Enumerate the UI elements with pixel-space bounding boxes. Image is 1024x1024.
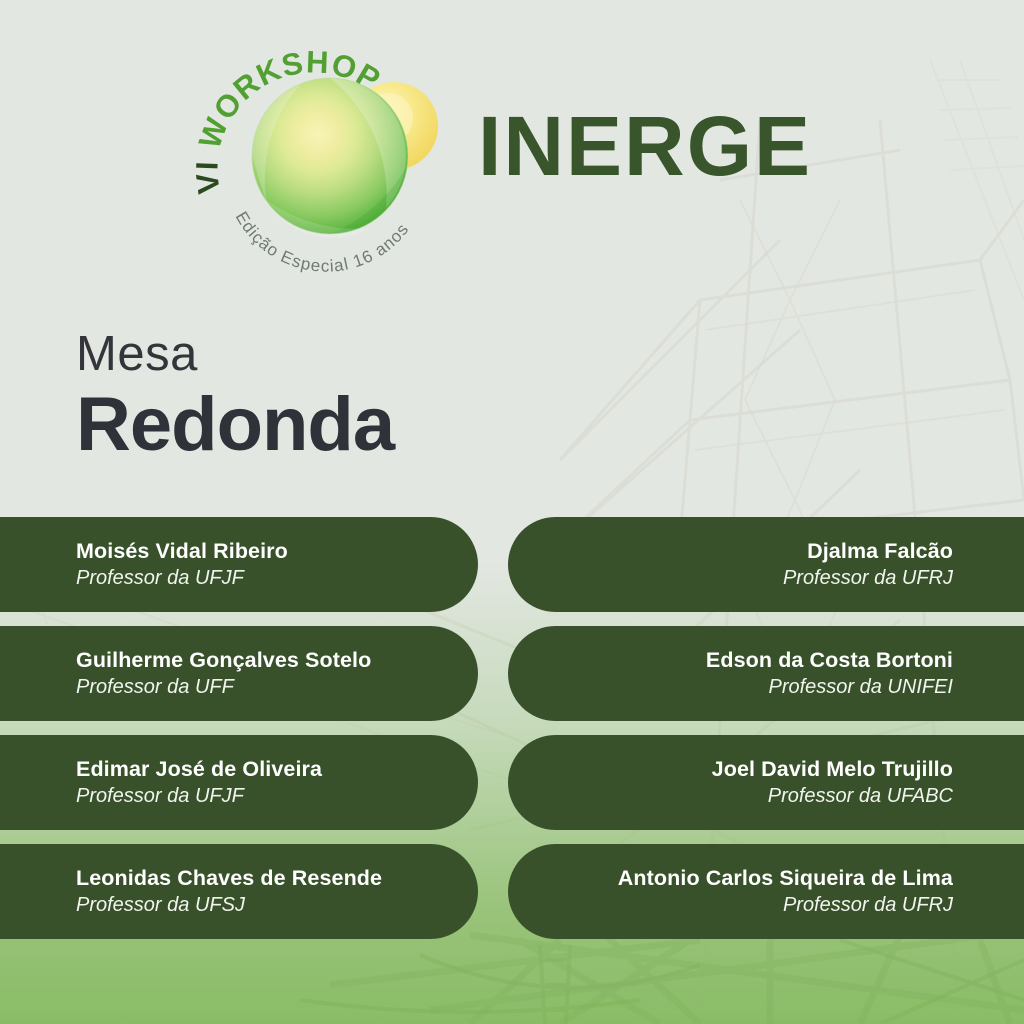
participant-name: Djalma Falcão	[807, 538, 953, 565]
participant-name: Leonidas Chaves de Resende	[76, 865, 382, 892]
participant-role: Professor da UFRJ	[783, 565, 953, 591]
participant-name: Antonio Carlos Siqueira de Lima	[618, 865, 953, 892]
participant-card[interactable]: Antonio Carlos Siqueira de Lima Professo…	[508, 844, 1024, 939]
participant-name: Edimar José de Oliveira	[76, 756, 322, 783]
page-title: Mesa Redonda	[76, 330, 394, 465]
participant-card[interactable]: Edimar José de Oliveira Professor da UFJ…	[0, 735, 478, 830]
participant-role: Professor da UFABC	[768, 783, 953, 809]
card-row: Leonidas Chaves de Resende Professor da …	[0, 844, 1024, 939]
participant-card[interactable]: Joel David Melo Trujillo Professor da UF…	[508, 735, 1024, 830]
participant-role: Professor da UFJF	[76, 783, 244, 809]
card-row: Edimar José de Oliveira Professor da UFJ…	[0, 735, 1024, 830]
participant-name: Joel David Melo Trujillo	[712, 756, 953, 783]
brand-title: INERGE	[478, 104, 812, 188]
page-title-line-2: Redonda	[76, 385, 394, 465]
participant-name: Edson da Costa Bortoni	[706, 647, 953, 674]
poster-canvas: VI WORKSHOP Edição Especial 16 anos INER…	[0, 0, 1024, 1024]
participant-role: Professor da UFF	[76, 674, 234, 700]
participant-role: Professor da UFJF	[76, 565, 244, 591]
participant-role: Professor da UFRJ	[783, 892, 953, 918]
participant-card-grid: Moisés Vidal Ribeiro Professor da UFJF D…	[0, 517, 1024, 953]
inerge-workshop-logo: VI WORKSHOP Edição Especial 16 anos	[190, 48, 470, 280]
participant-name: Guilherme Gonçalves Sotelo	[76, 647, 371, 674]
participant-card[interactable]: Guilherme Gonçalves Sotelo Professor da …	[0, 626, 478, 721]
participant-card[interactable]: Leonidas Chaves de Resende Professor da …	[0, 844, 478, 939]
participant-name: Moisés Vidal Ribeiro	[76, 538, 288, 565]
logo-arc-prefix: VI	[190, 160, 227, 196]
participant-card[interactable]: Edson da Costa Bortoni Professor da UNIF…	[508, 626, 1024, 721]
participant-role: Professor da UNIFEI	[768, 674, 953, 700]
page-title-line-1: Mesa	[76, 330, 394, 379]
card-row: Guilherme Gonçalves Sotelo Professor da …	[0, 626, 1024, 721]
card-row: Moisés Vidal Ribeiro Professor da UFJF D…	[0, 517, 1024, 612]
green-sphere-icon	[252, 78, 408, 238]
participant-card[interactable]: Djalma Falcão Professor da UFRJ	[508, 517, 1024, 612]
participant-card[interactable]: Moisés Vidal Ribeiro Professor da UFJF	[0, 517, 478, 612]
participant-role: Professor da UFSJ	[76, 892, 245, 918]
